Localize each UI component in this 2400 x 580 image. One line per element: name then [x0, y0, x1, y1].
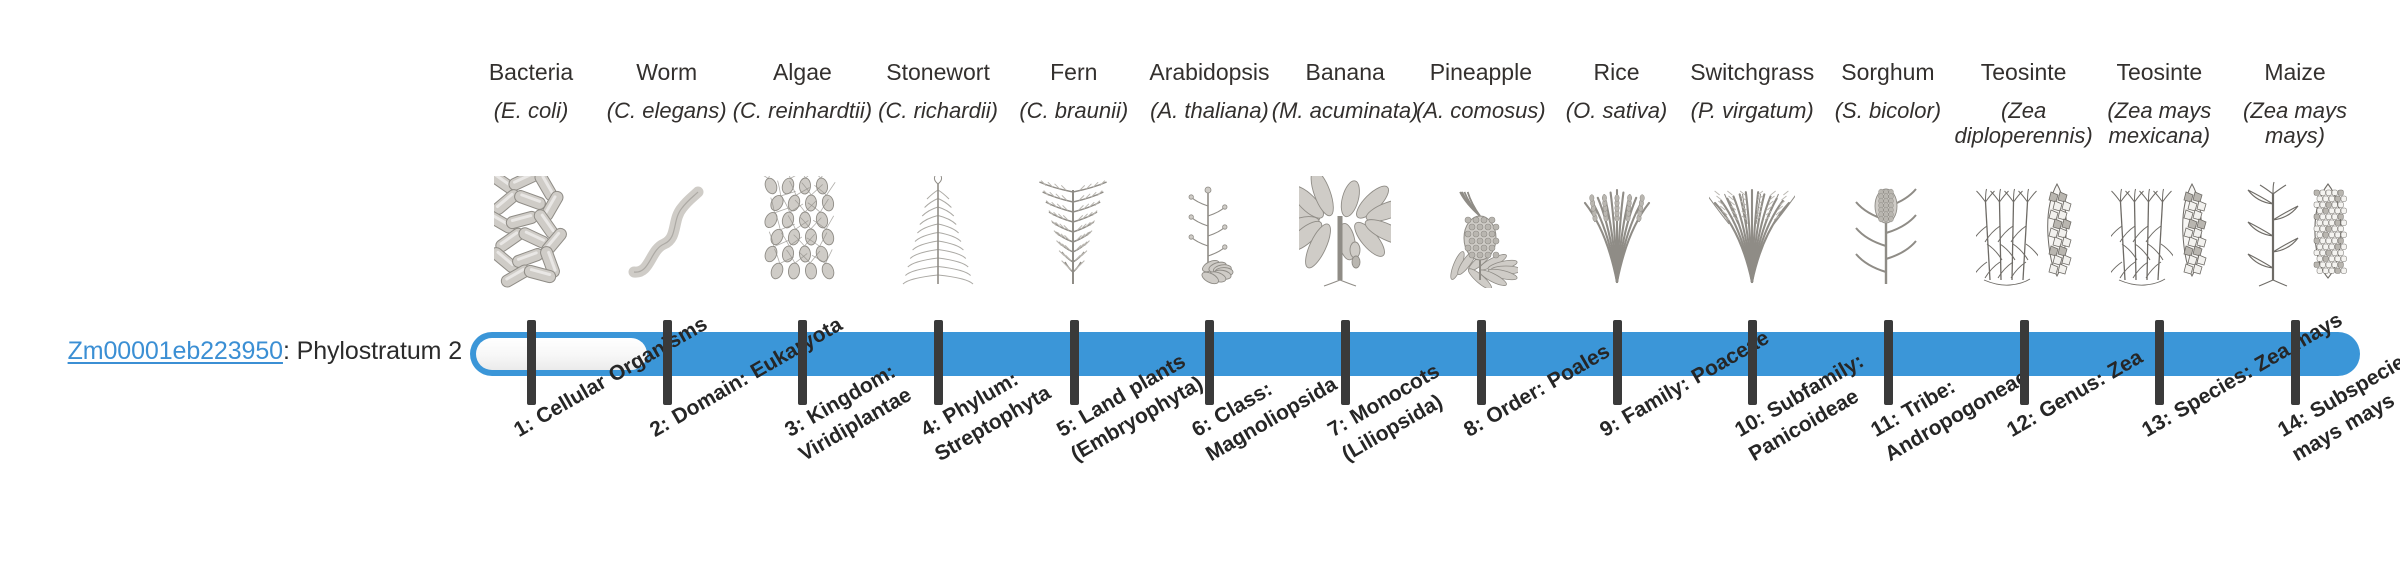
phylostratum-column-1: Bacteria (E. coli)	[463, 0, 599, 580]
organism-scientific-name: (C. richardii)	[860, 98, 1016, 123]
phylostratum-column-11: Sorghum (S. bicolor)	[1820, 0, 1956, 580]
timeline-tick-12[interactable]	[2020, 320, 2029, 405]
organism-scientific-name: (O. sativa)	[1539, 98, 1695, 123]
phylostratum-column-4: Stonewort (C. richardii)	[870, 0, 1006, 580]
organism-scientific-name: (E. coli)	[453, 98, 609, 123]
bacteria-rods-illustration	[463, 168, 599, 288]
rice-grass-illustration	[1549, 168, 1685, 288]
organism-scientific-name: (C. braunii)	[996, 98, 1152, 123]
phylostratum-column-13: Teosinte (Zea mays mexicana)	[2091, 0, 2227, 580]
phylostratum-column-14: Maize (Zea mays mays)	[2227, 0, 2363, 580]
timeline-tick-2[interactable]	[663, 320, 672, 405]
fern-frond-illustration	[1006, 168, 1142, 288]
timeline-tick-11[interactable]	[1884, 320, 1893, 405]
organism-scientific-name: (Zea mays mays)	[2217, 98, 2373, 149]
timeline-tick-6[interactable]	[1205, 320, 1214, 405]
timeline-tick-3[interactable]	[798, 320, 807, 405]
organism-common-name: Maize	[2213, 60, 2377, 85]
sorghum-panicle-illustration	[1820, 168, 1956, 288]
organism-scientific-name: (A. thaliana)	[1131, 98, 1287, 123]
timeline-tick-14[interactable]	[2291, 320, 2300, 405]
phylostratum-column-12: Teosinte (Zea diploperennis)	[1956, 0, 2092, 580]
timeline-tick-5[interactable]	[1070, 320, 1079, 405]
green-algae-cells-illustration	[734, 168, 870, 288]
phylostratum-column-5: Fern (C. braunii)	[1006, 0, 1142, 580]
gene-id-link[interactable]: Zm00001eb223950	[68, 337, 283, 365]
nematode-worm-illustration	[599, 168, 735, 288]
phylostratum-column-10: Switchgrass (P. virgatum)	[1684, 0, 1820, 580]
teosinte-plant-and-ear-illustration	[2091, 168, 2227, 288]
organism-scientific-name: (S. bicolor)	[1810, 98, 1966, 123]
phylostratum-columns: Bacteria (E. coli) W	[463, 0, 2363, 580]
phylostratum-timeline-figure: Zm00001eb223950: Phylostratum 2 Bacteria…	[0, 0, 2400, 580]
phylostratum-column-8: Pineapple (A. comosus)	[1413, 0, 1549, 580]
timeline-tick-7[interactable]	[1341, 320, 1350, 405]
phylostratum-column-2: Worm (C. elegans)	[599, 0, 735, 580]
organism-scientific-name: (Zea mays mexicana)	[2081, 98, 2237, 149]
gene-phylostratum-label: Zm00001eb223950: Phylostratum 2	[0, 337, 462, 366]
maize-plant-and-cob-illustration	[2227, 168, 2363, 288]
phylostratum-column-3: Algae (C. reinhardtii)	[734, 0, 870, 580]
phylostratum-column-6: Arabidopsis (A. thaliana)	[1141, 0, 1277, 580]
phylostratum-value: Phylostratum 2	[297, 337, 462, 365]
timeline-tick-8[interactable]	[1477, 320, 1486, 405]
organism-scientific-name: (A. comosus)	[1403, 98, 1559, 123]
gene-label-separator: :	[283, 337, 297, 365]
stonewort-alga-illustration	[870, 168, 1006, 288]
organism-scientific-name: (C. reinhardtii)	[724, 98, 880, 123]
phylostratum-column-7: Banana (M. acuminata)	[1277, 0, 1413, 580]
switchgrass-illustration	[1684, 168, 1820, 288]
organism-scientific-name: (P. virgatum)	[1674, 98, 1830, 123]
arabidopsis-rosette-illustration	[1141, 168, 1277, 288]
timeline-tick-4[interactable]	[934, 320, 943, 405]
timeline-tick-1[interactable]	[527, 320, 536, 405]
banana-palm-illustration	[1277, 168, 1413, 288]
organism-scientific-name: (M. acuminata)	[1267, 98, 1423, 123]
timeline-tick-9[interactable]	[1613, 320, 1622, 405]
teosinte-plant-and-ear-illustration	[1956, 168, 2092, 288]
phylostratum-column-9: Rice (O. sativa)	[1549, 0, 1685, 580]
timeline-tick-13[interactable]	[2155, 320, 2164, 405]
organism-scientific-name: (Zea diploperennis)	[1946, 98, 2102, 149]
timeline-tick-10[interactable]	[1748, 320, 1757, 405]
organism-scientific-name: (C. elegans)	[589, 98, 745, 123]
pineapple-plant-illustration	[1413, 168, 1549, 288]
